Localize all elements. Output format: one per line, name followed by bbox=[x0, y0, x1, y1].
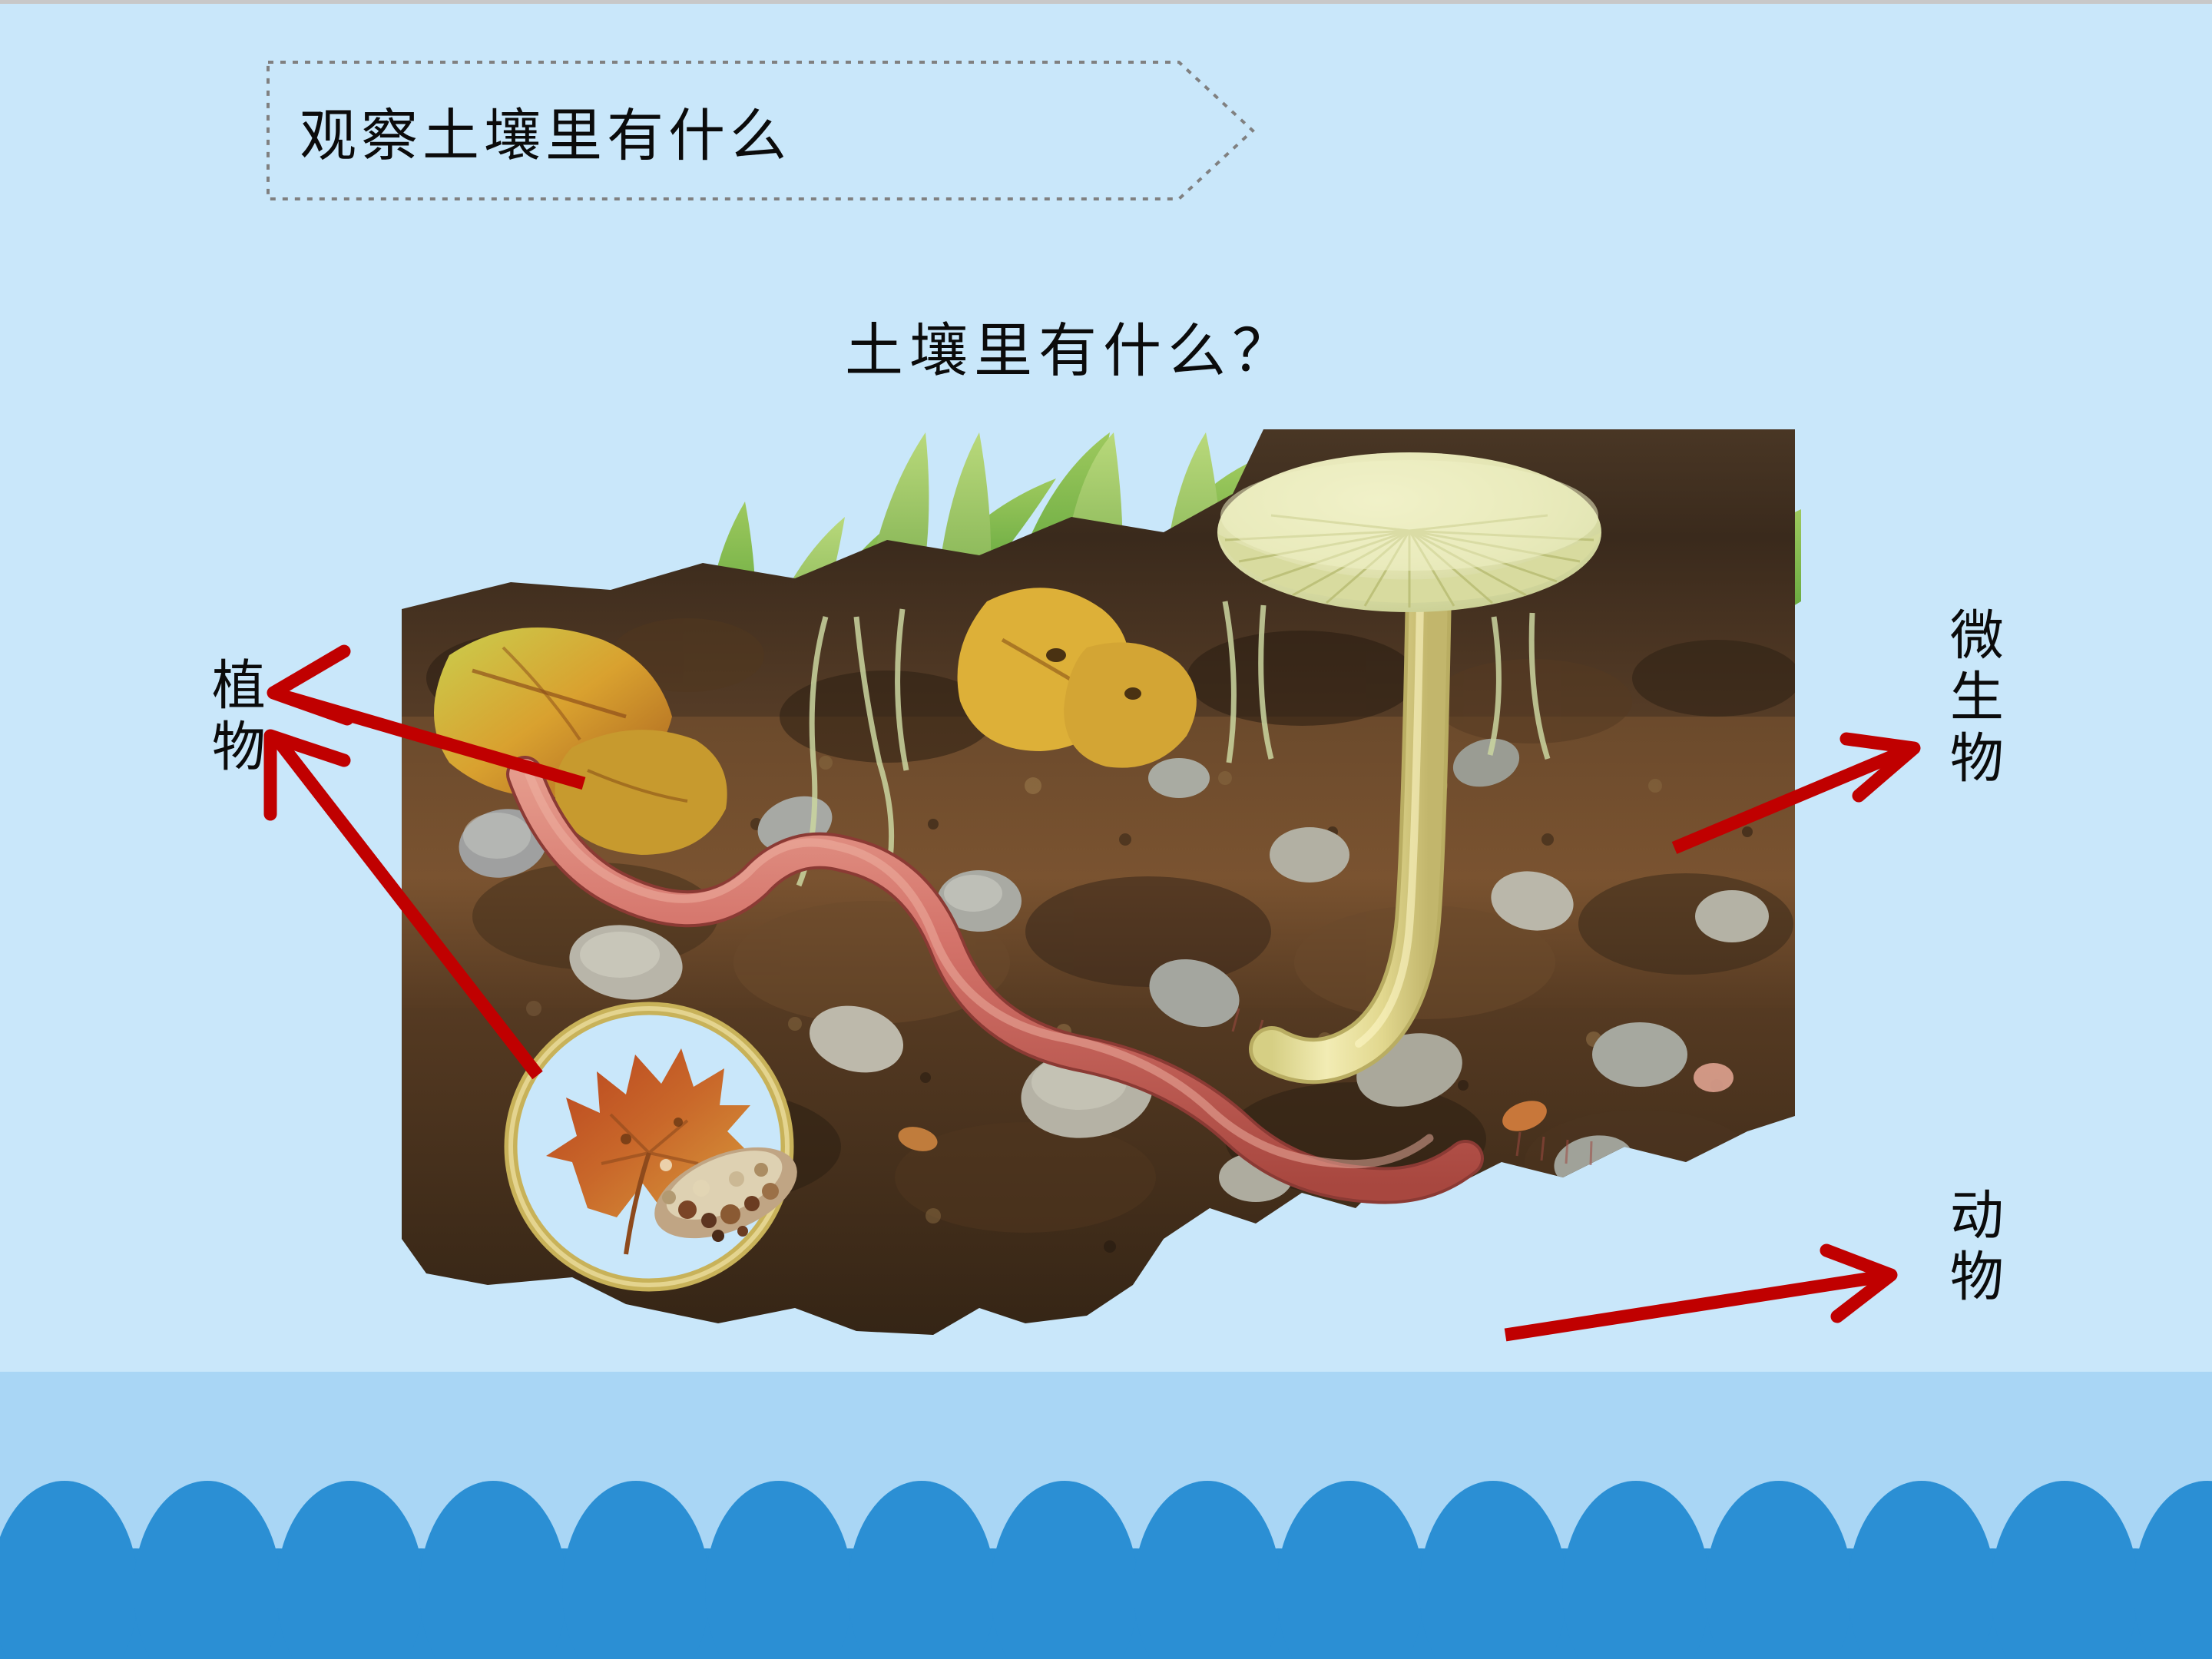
page-title: 土壤里有什么？ bbox=[845, 303, 1296, 388]
top-edge-strip bbox=[0, 0, 2212, 4]
bottom-scallop-decoration bbox=[0, 1372, 2212, 1659]
label-microorganism: 微生物 bbox=[1939, 607, 2005, 791]
header-banner: 观察土壤里有什么 bbox=[265, 58, 1256, 204]
soil-cross-section-illustration bbox=[396, 425, 1801, 1385]
banner-title: 观察土壤里有什么 bbox=[300, 81, 1183, 180]
scallop-row-front bbox=[0, 1481, 2212, 1659]
label-plant: 植物 bbox=[201, 657, 267, 780]
slide-canvas: 观察土壤里有什么 土壤里有什么？ bbox=[0, 0, 2212, 1659]
label-animal: 动物 bbox=[1939, 1187, 2005, 1310]
